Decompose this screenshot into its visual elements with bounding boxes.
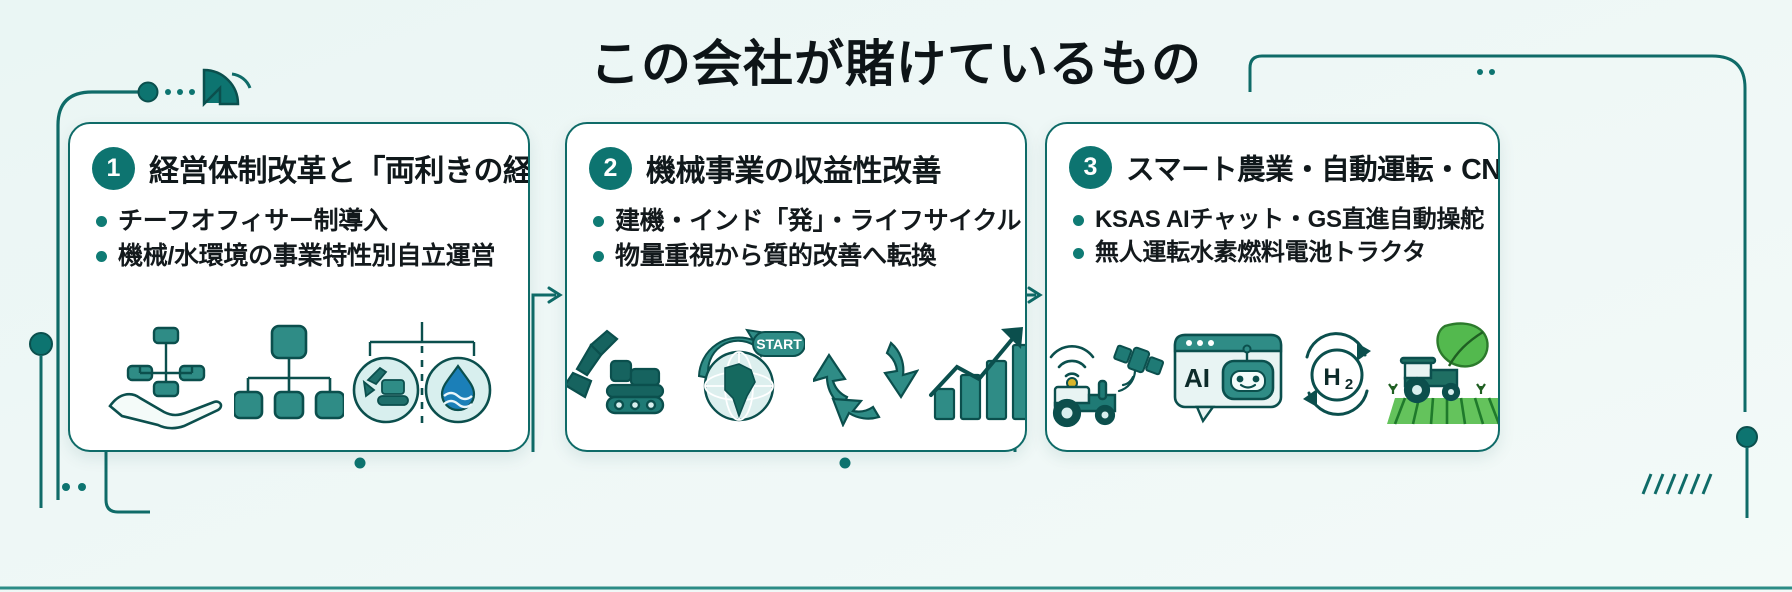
list-item: 機械/水環境の事業特性別自立運営 bbox=[96, 239, 514, 274]
hydrogen-subscript-label: 2 bbox=[1344, 376, 1352, 393]
excavator-icon bbox=[565, 323, 673, 432]
hydrogen-symbol-label: H bbox=[1323, 364, 1340, 391]
left-dot-node bbox=[30, 333, 52, 355]
connected-tractor-satellite-icon bbox=[1045, 319, 1167, 436]
bottom-left-dot-2 bbox=[78, 483, 86, 491]
card-2-header: 2 機械事業の収益性改善 bbox=[567, 124, 1025, 190]
growth-bar-chart-arrow-icon bbox=[927, 323, 1027, 432]
bottom-mid-dot-1 bbox=[355, 458, 366, 469]
card-1-header: 1 経営体制改革と「両利きの経営」 bbox=[70, 124, 528, 190]
card-1-icon-row bbox=[70, 318, 528, 436]
right-dot-node bbox=[1737, 427, 1757, 447]
card-2[interactable]: 2 機械事業の収益性改善 建機・インド「発」・ライフサイクル 物量重視から質的改… bbox=[565, 122, 1027, 452]
bullet-text: 物量重視から質的改善へ転換 bbox=[615, 239, 936, 274]
card-1[interactable]: 1 経営体制改革と「両利きの経営」 チーフオフィサー制導入 機械/水環境の事業特… bbox=[68, 122, 530, 452]
card-1-number-badge: 1 bbox=[92, 147, 135, 190]
card-3-header: 3 スマート農業・自動運転・CN技術 bbox=[1047, 124, 1498, 189]
card-3-number-badge: 3 bbox=[1069, 146, 1112, 189]
list-item: チーフオフィサー制導入 bbox=[96, 204, 514, 239]
ai-label: AI bbox=[1184, 363, 1210, 393]
bullet-text: チーフオフィサー制導入 bbox=[118, 204, 388, 239]
card-1-title: 経営体制改革と「両利きの経営」 bbox=[149, 146, 530, 190]
hand-holding-org-chart-icon bbox=[106, 320, 226, 435]
bullet-dot-icon bbox=[96, 251, 107, 262]
card-2-bullets: 建機・インド「発」・ライフサイクル 物量重視から質的改善へ転換 bbox=[567, 190, 1025, 273]
bullet-dot-icon bbox=[1073, 248, 1084, 259]
bottom-right-hatch bbox=[1643, 474, 1711, 494]
list-item: KSAS AIチャット・GS直進自動操舵 bbox=[1073, 203, 1484, 236]
bullet-dot-icon bbox=[593, 216, 604, 227]
list-item: 建機・インド「発」・ライフサイクル bbox=[593, 204, 1011, 239]
bullet-dot-icon bbox=[96, 216, 107, 227]
ai-chatbot-window-icon: AI bbox=[1169, 321, 1287, 434]
bottom-left-dot-1 bbox=[62, 483, 70, 491]
card-1-bullets: チーフオフィサー制導入 機械/水環境の事業特性別自立運営 bbox=[70, 190, 528, 273]
bottom-left-card-stub bbox=[106, 452, 150, 512]
card-3-title: スマート農業・自動運転・CN技術 bbox=[1126, 147, 1500, 188]
bullet-dot-icon bbox=[1073, 215, 1084, 226]
card-3-bullets: KSAS AIチャット・GS直進自動操舵 無人運転水素燃料電池トラクタ bbox=[1047, 189, 1498, 269]
page-title: この会社が賭けているもの bbox=[0, 24, 1792, 96]
bullet-text: 無人運転水素燃料電池トラクタ bbox=[1095, 236, 1426, 269]
card-2-title: 機械事業の収益性改善 bbox=[646, 146, 941, 190]
bullet-text: KSAS AIチャット・GS直進自動操舵 bbox=[1095, 203, 1484, 236]
hydrogen-cycle-icon: H 2 bbox=[1289, 323, 1385, 432]
globe-india-start-icon: START bbox=[681, 320, 805, 435]
list-item: 無人運転水素燃料電池トラクタ bbox=[1073, 236, 1484, 269]
excavator-and-water-drop-split-icon bbox=[352, 320, 492, 435]
bullet-text: 機械/水環境の事業特性別自立運営 bbox=[118, 239, 495, 274]
start-badge-label: START bbox=[756, 336, 802, 352]
recycle-lifecycle-icon bbox=[813, 323, 919, 432]
infographic-stage: この会社が賭けているもの 1 経営体制改革と「両利きの経営」 チーフオフィサー制… bbox=[0, 0, 1792, 592]
card-3-icon-row: AI bbox=[1047, 318, 1498, 436]
bullet-dot-icon bbox=[593, 251, 604, 262]
bullet-text: 建機・インド「発」・ライフサイクル bbox=[615, 204, 1021, 239]
card-2-number-badge: 2 bbox=[589, 147, 632, 190]
card-3[interactable]: 3 スマート農業・自動運転・CN技術 KSAS AIチャット・GS直進自動操舵 … bbox=[1045, 122, 1500, 452]
org-chart-hierarchy-icon bbox=[234, 320, 344, 435]
arrow-card1-to-card2 bbox=[533, 295, 556, 452]
tractor-field-leaf-icon bbox=[1387, 320, 1501, 435]
start-badge: START bbox=[753, 332, 805, 356]
bottom-mid-dot-2 bbox=[840, 458, 851, 469]
list-item: 物量重視から質的改善へ転換 bbox=[593, 239, 1011, 274]
card-2-icon-row: START bbox=[567, 318, 1025, 436]
